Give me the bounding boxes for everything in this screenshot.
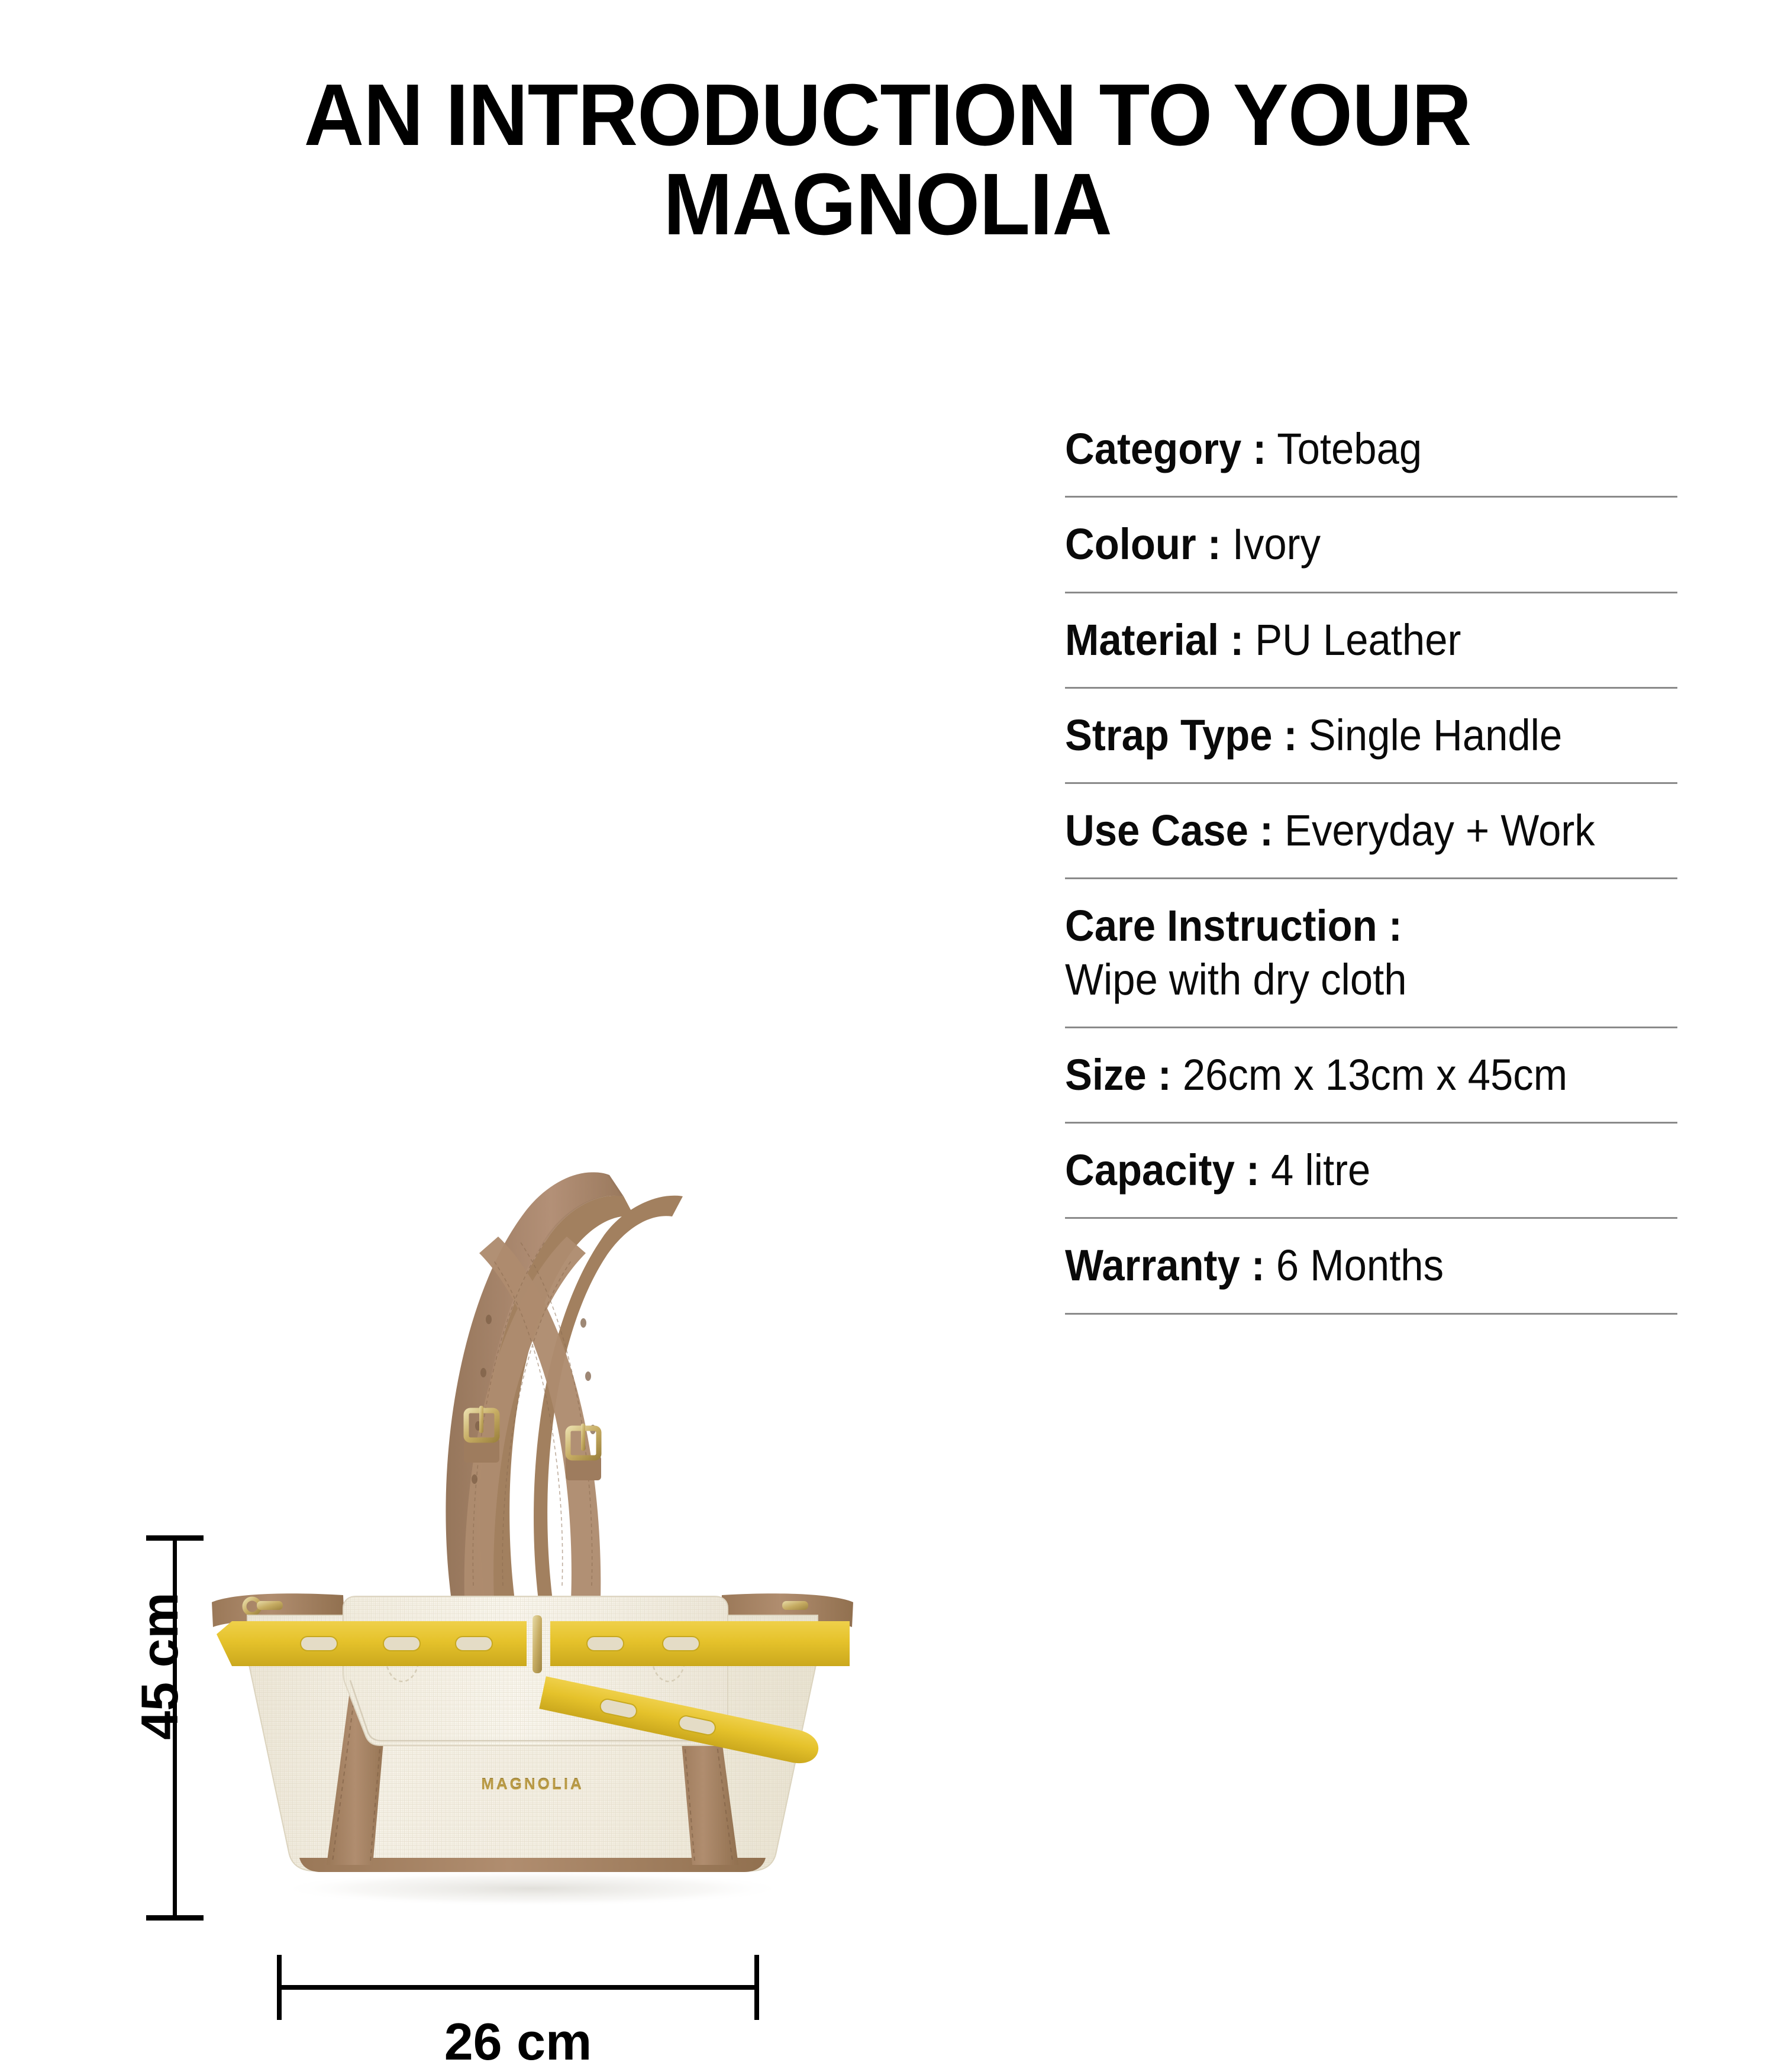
spec-value-text: Ivory bbox=[1232, 519, 1321, 569]
spec-row: Size : 26cm x 13cm x 45cm bbox=[1065, 1028, 1692, 1122]
belt-buckle-bar bbox=[532, 1615, 542, 1673]
product-ground-shadow bbox=[278, 1871, 787, 1906]
spec-value-text: Everyday + Work bbox=[1285, 806, 1595, 855]
spec-line: Category : Totebag bbox=[1065, 422, 1648, 476]
page-title-line-1: AN INTRODUCTION TO YOUR bbox=[191, 71, 1584, 160]
width-dimension-line bbox=[277, 1985, 759, 1990]
page-title: AN INTRODUCTION TO YOUR MAGNOLIA bbox=[154, 71, 1621, 250]
page-title-line-2: MAGNOLIA bbox=[191, 160, 1584, 250]
specification-list: Category : TotebagColour : IvoryMaterial… bbox=[1065, 402, 1692, 1315]
product-photo-totebag: MAGNOLIA bbox=[195, 1065, 870, 1923]
spec-label-text: Warranty : bbox=[1065, 1241, 1265, 1290]
spec-label-text: Material : bbox=[1065, 615, 1244, 664]
spec-line: Warranty : 6 Months bbox=[1065, 1239, 1648, 1292]
spec-line: Size : 26cm x 13cm x 45cm bbox=[1065, 1048, 1648, 1102]
spec-row: Colour : Ivory bbox=[1065, 498, 1692, 591]
spec-label-text: Care Instruction : bbox=[1065, 901, 1402, 950]
spec-label-text: Colour : bbox=[1065, 519, 1221, 569]
height-dimension-label: 45 cm bbox=[130, 1571, 190, 1761]
product-image-panel: 45 cm 26 cm bbox=[0, 473, 1006, 1597]
spec-row: Use Case : Everyday + Work bbox=[1065, 784, 1692, 877]
spec-row: Warranty : 6 Months bbox=[1065, 1219, 1692, 1312]
spec-divider bbox=[1065, 1313, 1677, 1315]
spec-value-text: 6 Months bbox=[1276, 1241, 1444, 1290]
spec-row: Strap Type : Single Handle bbox=[1065, 689, 1692, 782]
spec-line: Material : PU Leather bbox=[1065, 614, 1648, 667]
spec-row: Capacity : 4 litre bbox=[1065, 1124, 1692, 1217]
spec-value: Wipe with dry cloth bbox=[1065, 953, 1648, 1006]
spec-line: Use Case : Everyday + Work bbox=[1065, 804, 1648, 857]
spec-label-text: Category : bbox=[1065, 424, 1266, 473]
spec-row: Care Instruction :Wipe with dry cloth bbox=[1065, 879, 1692, 1027]
spec-value-text: 4 litre bbox=[1271, 1145, 1370, 1195]
width-dimension-cap-right bbox=[754, 1955, 759, 2020]
spec-value-text: Single Handle bbox=[1309, 711, 1563, 760]
spec-line: Colour : Ivory bbox=[1065, 518, 1648, 571]
spec-label-text: Size : bbox=[1065, 1050, 1171, 1099]
brand-logo-text: MAGNOLIA bbox=[195, 1775, 870, 1793]
spec-value-text: 26cm x 13cm x 45cm bbox=[1183, 1050, 1567, 1099]
spec-line: Capacity : 4 litre bbox=[1065, 1144, 1648, 1197]
spec-row: Category : Totebag bbox=[1065, 402, 1692, 496]
width-dimension-label: 26 cm bbox=[277, 2012, 759, 2072]
spec-line: Strap Type : Single Handle bbox=[1065, 709, 1648, 762]
spec-value-text: PU Leather bbox=[1255, 615, 1461, 664]
spec-label-text: Capacity : bbox=[1065, 1145, 1260, 1195]
spec-label-text: Use Case : bbox=[1065, 806, 1273, 855]
spec-row: Material : PU Leather bbox=[1065, 593, 1692, 687]
spec-value-text: Totebag bbox=[1277, 424, 1422, 473]
spec-label-text: Strap Type : bbox=[1065, 711, 1298, 760]
shoulder-straps bbox=[446, 1172, 683, 1600]
spec-label: Care Instruction : bbox=[1065, 899, 1648, 953]
spec-value-text: Wipe with dry cloth bbox=[1065, 955, 1407, 1004]
